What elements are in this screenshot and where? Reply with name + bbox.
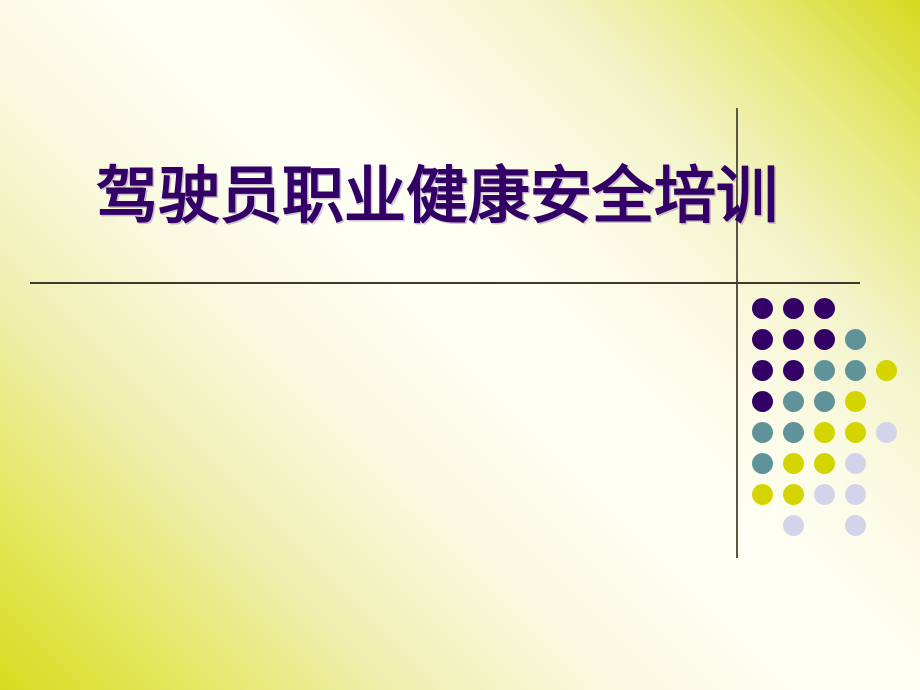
matrix-dot-purple: [752, 329, 773, 350]
matrix-dot-teal: [814, 391, 835, 412]
matrix-dot-teal: [783, 422, 804, 443]
matrix-dot-lavender: [845, 515, 866, 536]
matrix-dot-yellow: [814, 453, 835, 474]
page-title: 驾驶员职业健康安全培训: [96, 163, 778, 228]
matrix-dot-teal: [752, 453, 773, 474]
matrix-dot-purple: [752, 298, 773, 319]
matrix-dot-purple: [783, 298, 804, 319]
matrix-dot-teal: [814, 360, 835, 381]
matrix-dot-yellow: [845, 391, 866, 412]
matrix-dot-teal: [752, 422, 773, 443]
matrix-dot-yellow: [783, 484, 804, 505]
matrix-dot-purple: [752, 391, 773, 412]
horizontal-divider: [30, 282, 860, 284]
matrix-dot-purple: [783, 360, 804, 381]
matrix-dot-lavender: [814, 484, 835, 505]
matrix-dot-purple: [783, 329, 804, 350]
matrix-dot-purple: [752, 360, 773, 381]
matrix-dot-yellow: [845, 422, 866, 443]
matrix-dot-lavender: [876, 422, 897, 443]
matrix-dot-teal: [783, 391, 804, 412]
matrix-dot-lavender: [845, 484, 866, 505]
matrix-dot-yellow: [752, 484, 773, 505]
matrix-dot-yellow: [783, 453, 804, 474]
matrix-dot-purple: [814, 329, 835, 350]
matrix-dot-lavender: [845, 453, 866, 474]
matrix-dot-teal: [845, 360, 866, 381]
slide-title-block: 驾驶员职业健康安全培训: [96, 148, 736, 244]
matrix-dot-teal: [845, 329, 866, 350]
presentation-slide: 驾驶员职业健康安全培训: [0, 0, 920, 690]
matrix-dot-yellow: [814, 422, 835, 443]
matrix-dot-yellow: [876, 360, 897, 381]
matrix-dot-lavender: [783, 515, 804, 536]
matrix-dot-purple: [814, 298, 835, 319]
